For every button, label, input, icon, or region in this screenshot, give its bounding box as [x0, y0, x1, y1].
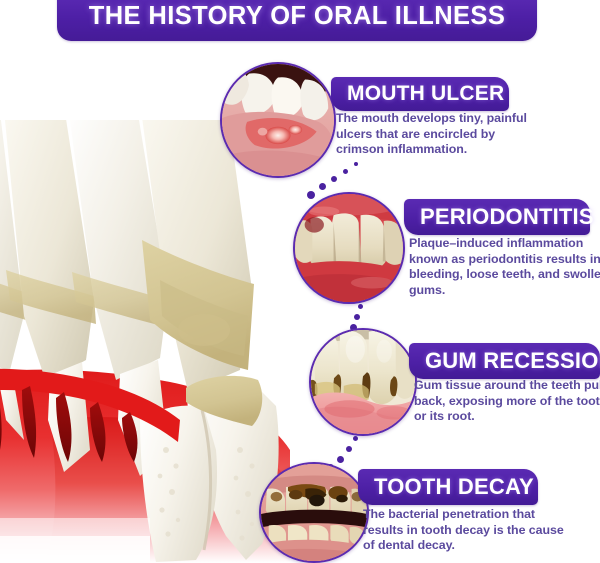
oral-anatomy-illustration — [0, 120, 300, 563]
copy-line: gums. — [409, 283, 600, 299]
infographic-canvas: MOUTH ULCER The mouth develops tiny, pai… — [0, 0, 600, 563]
copy-line: The mouth develops tiny, painful — [336, 111, 576, 127]
badge-label: GUM RECESSION — [425, 348, 600, 374]
photo-tooth-decay[interactable] — [259, 462, 369, 563]
copy-line: Gum tissue around the teeth pulls — [414, 378, 600, 394]
connector-dot — [354, 314, 360, 320]
connector-dot — [343, 169, 348, 174]
copy-line: bleeding, loose teeth, and swollen — [409, 267, 600, 283]
copy-line: back, exposing more of the tooth — [414, 394, 600, 410]
connector-dot — [354, 162, 358, 166]
badge-label: PERIODONTITIS — [420, 204, 594, 230]
connector-dot — [331, 176, 337, 182]
copy-line: crimson inflammation. — [336, 142, 576, 158]
badge-label: MOUTH ULCER — [347, 82, 504, 106]
connector-dot — [307, 191, 315, 199]
copy-line: results in tooth decay is the cause — [363, 523, 578, 539]
copy-line: or its root. — [414, 409, 600, 425]
connector-dot — [346, 446, 352, 452]
copy-line: Plaque–induced inflammation — [409, 236, 600, 252]
page-title-banner: THE HISTORY OF ORAL ILLNESS — [57, 0, 537, 41]
copy-periodontitis: Plaque–induced inflammation known as per… — [409, 236, 600, 298]
copy-gum-recession: Gum tissue around the teeth pulls back, … — [414, 378, 600, 425]
badge-label: TOOTH DECAY — [374, 474, 534, 500]
badge-tooth-decay[interactable]: TOOTH DECAY — [358, 469, 538, 505]
connector-dot — [353, 436, 358, 441]
page-title: THE HISTORY OF ORAL ILLNESS — [89, 2, 505, 31]
copy-mouth-ulcer: The mouth develops tiny, painful ulcers … — [336, 111, 576, 158]
copy-line: known as periodontitis results in — [409, 252, 600, 268]
copy-tooth-decay: The bacterial penetration that results i… — [363, 507, 578, 554]
copy-line: The bacterial penetration that — [363, 507, 578, 523]
badge-gum-recession[interactable]: GUM RECESSION — [409, 343, 600, 379]
connector-dot — [337, 456, 344, 463]
connector-dot — [319, 183, 326, 190]
photo-gum-recession[interactable] — [309, 328, 417, 436]
connector-dot — [358, 304, 363, 309]
badge-periodontitis[interactable]: PERIODONTITIS — [404, 199, 590, 235]
photo-periodontitis[interactable] — [293, 192, 405, 304]
copy-line: ulcers that are encircled by — [336, 127, 576, 143]
badge-mouth-ulcer[interactable]: MOUTH ULCER — [331, 77, 509, 111]
copy-line: of dental decay. — [363, 538, 578, 554]
